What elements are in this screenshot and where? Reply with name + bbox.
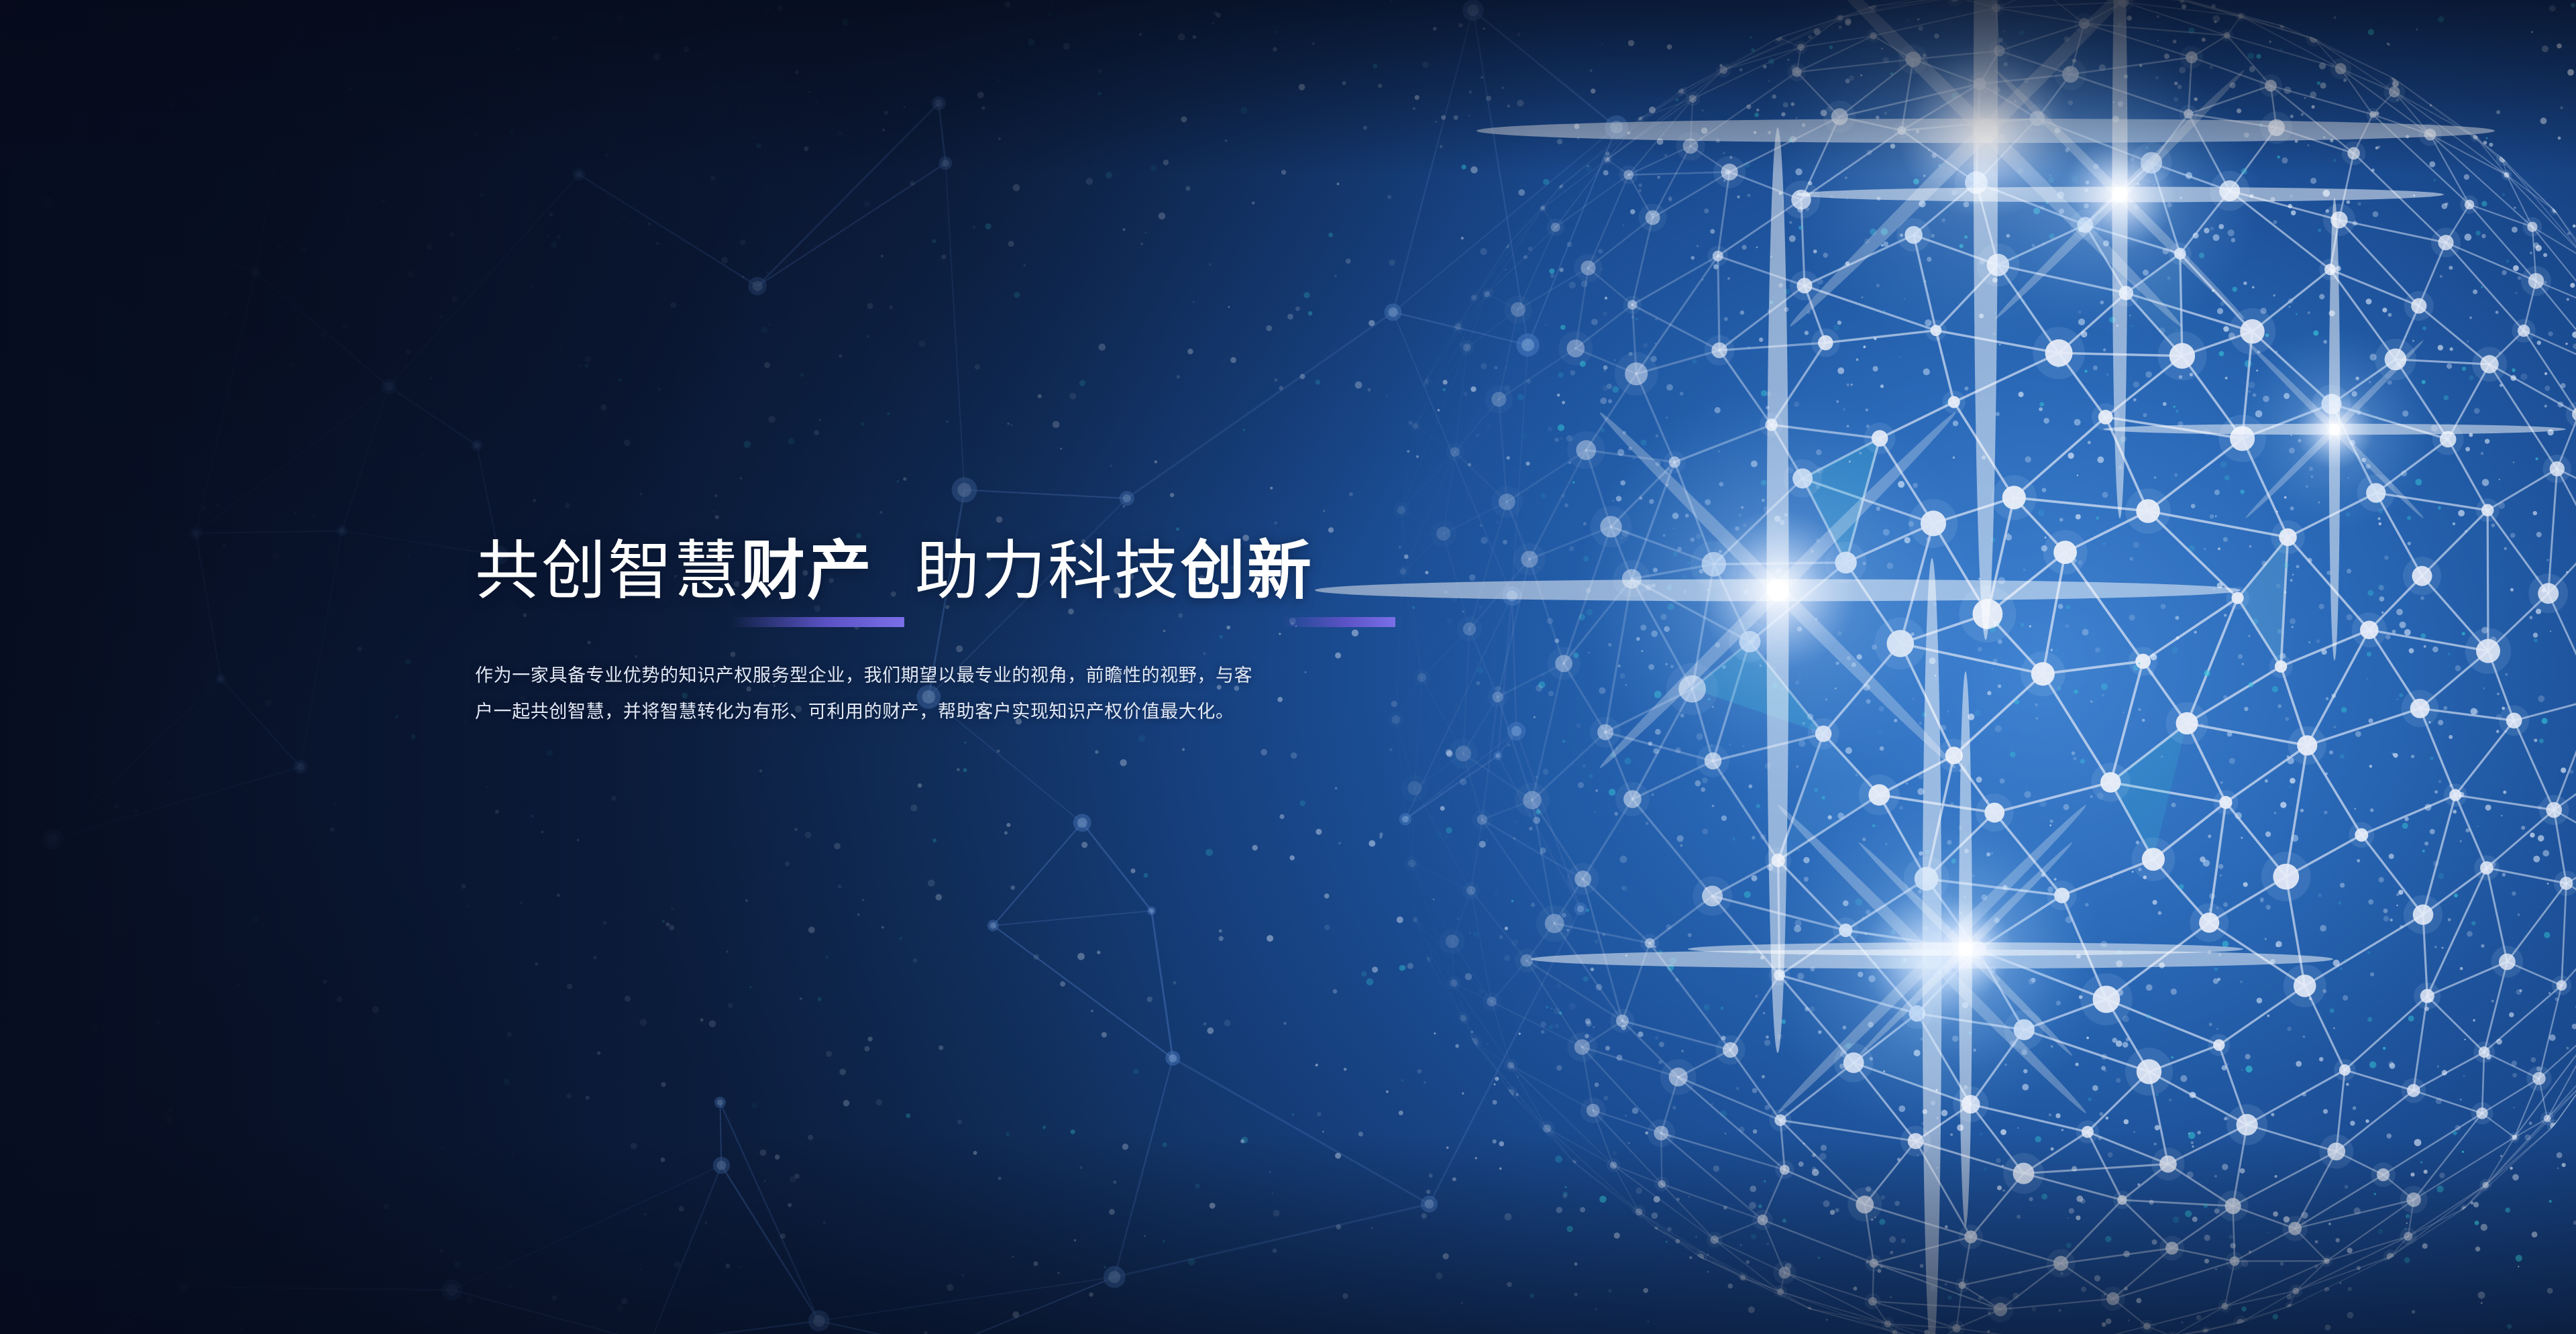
headline-segment-two-light: 助力科技 [915, 535, 1181, 607]
accent-bar-row [475, 617, 1481, 632]
headline-segment-two-bold: 创新 [1181, 535, 1313, 607]
hero-description: 作为一家具备专业优势的知识产权服务型企业，我们期望以最专业的视角，前瞻性的视野，… [475, 657, 1253, 730]
bottom-shade [0, 1133, 2576, 1334]
accent-bar-under-caichan [731, 617, 904, 627]
top-shade [0, 0, 2576, 174]
hero-content: 共创智慧财产助力科技创新 作为一家具备专业优势的知识产权服务型企业，我们期望以最… [475, 537, 1481, 730]
headline-segment-one-light: 共创智慧 [475, 535, 741, 607]
page-title: 共创智慧财产助力科技创新 [475, 537, 1481, 606]
accent-bar-under-chuangxin [1281, 617, 1395, 627]
headline-segment-one-bold: 财产 [741, 535, 873, 607]
hero-banner: 共创智慧财产助力科技创新 作为一家具备专业优势的知识产权服务型企业，我们期望以最… [0, 0, 2576, 1334]
